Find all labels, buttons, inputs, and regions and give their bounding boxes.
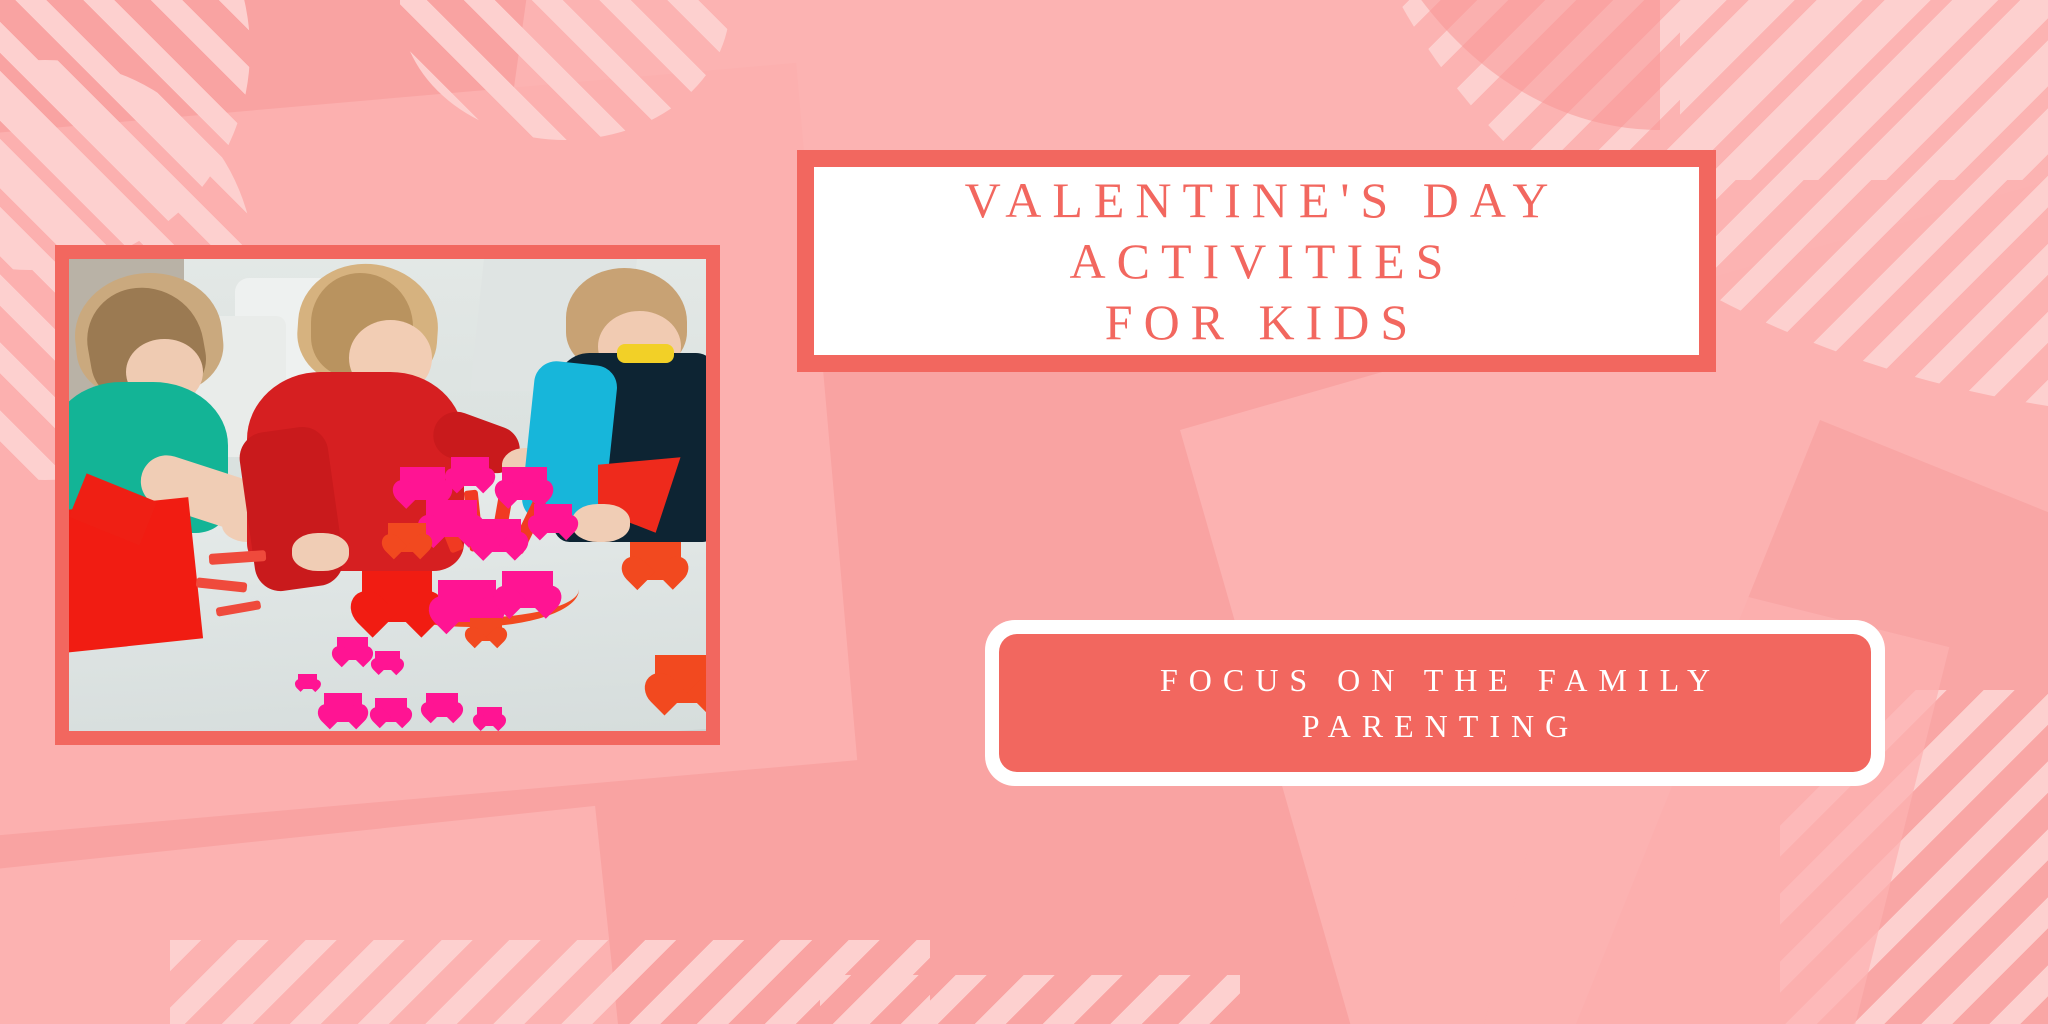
paper-heart-12 [337, 637, 369, 661]
paper-heart-5 [388, 523, 426, 551]
stripe-block-top-right-secondary [1680, 0, 2048, 180]
paper-heart-11 [470, 618, 502, 642]
paper-heart-2 [451, 457, 489, 485]
paper-heart-6 [477, 519, 522, 552]
paper-heart-4 [426, 500, 477, 538]
subtitle-badge: FOCUS ON THE FAMILY PARENTING [985, 620, 1885, 786]
paper-heart-16 [426, 693, 458, 717]
child-blue-hand [572, 504, 629, 542]
paper-heart-1 [400, 467, 445, 500]
child-blue-collar [617, 344, 674, 363]
subtitle-badge-fill: FOCUS ON THE FAMILY PARENTING [999, 634, 1871, 772]
title-line-2: ACTIVITIES [1059, 231, 1455, 292]
paper-heart-18 [630, 542, 681, 580]
photo-frame [55, 245, 720, 745]
paper-heart-10 [502, 571, 553, 609]
child-red-left-hand [292, 533, 349, 571]
paper-heart-13 [375, 651, 400, 670]
paper-heart-7 [534, 504, 572, 532]
stripe-block-bottom-center [170, 940, 930, 1024]
paper-heart-19 [655, 655, 706, 702]
title-line-3: FOR KIDS [1094, 292, 1419, 353]
paper-heart-3 [502, 467, 547, 500]
paper-heart-20 [298, 674, 317, 688]
paper-heart-15 [375, 698, 407, 722]
paper-heart-8 [362, 571, 432, 623]
photo-image [69, 259, 706, 731]
subtitle-line-2: PARENTING [1291, 703, 1579, 749]
title-line-1: VALENTINE'S DAY [954, 170, 1560, 231]
banner-canvas: VALENTINE'S DAY ACTIVITIES FOR KIDS FOCU… [0, 0, 2048, 1024]
paper-heart-14 [324, 693, 362, 721]
title-card: VALENTINE'S DAY ACTIVITIES FOR KIDS [797, 150, 1716, 372]
paper-heart-9 [438, 580, 495, 622]
subtitle-line-1: FOCUS ON THE FAMILY [1149, 657, 1721, 703]
paper-heart-17 [477, 707, 502, 726]
stripe-block-bottom-center-secondary [820, 975, 1240, 1024]
